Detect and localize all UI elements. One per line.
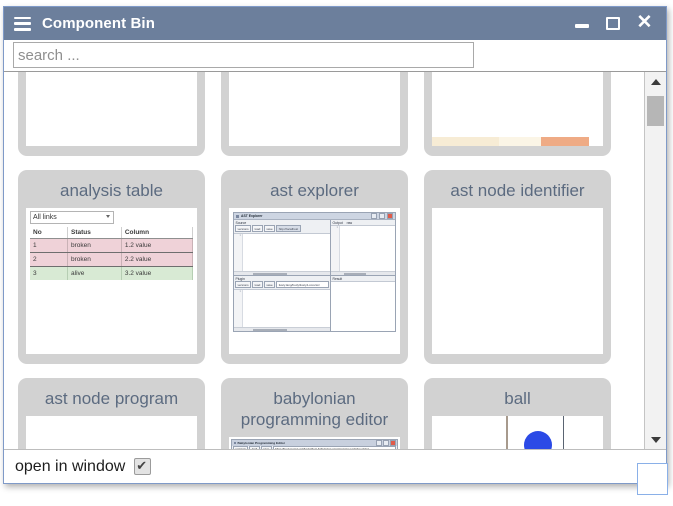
app-icon bbox=[236, 215, 239, 218]
ast-explorer-controls bbox=[371, 213, 393, 219]
output-code: 1 bbox=[331, 225, 395, 271]
search-row bbox=[4, 40, 666, 71]
component-card-ast-node-identifier[interactable]: ast node identifier bbox=[424, 170, 611, 364]
ast-explorer-top-row: Source versions load save http://localho… bbox=[234, 220, 395, 275]
window-title: Component Bin bbox=[42, 15, 155, 32]
line-gutter: 1 bbox=[234, 290, 243, 327]
babylonian-editor-preview: Babylonian Programming Editor versions bbox=[229, 437, 400, 449]
result-code bbox=[331, 281, 395, 331]
component-grid: analysis table All links No Statu bbox=[4, 72, 644, 449]
ast-explorer-window: AST Explorer Source bbox=[233, 212, 396, 332]
table-row[interactable]: 1 broken 1.2 value bbox=[30, 239, 193, 253]
component-card-ball[interactable]: ball bbox=[424, 378, 611, 449]
plugin-code: 1 bbox=[234, 289, 330, 327]
scroll-up-button[interactable] bbox=[645, 72, 666, 91]
babylonian-window: Babylonian Programming Editor versions bbox=[231, 439, 398, 449]
grid-viewport: analysis table All links No Statu bbox=[4, 72, 644, 449]
card-title: ast node identifier bbox=[432, 180, 603, 201]
component-grid-area: analysis table All links No Statu bbox=[4, 71, 666, 449]
hamburger-icon[interactable] bbox=[14, 17, 31, 31]
column-header: Status bbox=[68, 227, 122, 239]
open-in-window-checkbox[interactable] bbox=[134, 458, 151, 475]
cell-no: 1 bbox=[30, 239, 68, 253]
component-card[interactable] bbox=[424, 72, 611, 156]
cell-status: broken bbox=[68, 253, 122, 267]
cell-status: alive bbox=[68, 267, 122, 281]
card-preview bbox=[26, 416, 197, 449]
output-raw-checkbox: raw bbox=[347, 221, 352, 225]
ball-pane-3 bbox=[566, 416, 603, 449]
column-header: Column bbox=[121, 227, 192, 239]
ast-explorer-preview: AST Explorer Source bbox=[229, 208, 400, 354]
app-icon bbox=[234, 442, 237, 445]
component-card-babylonian-editor[interactable]: babylonian programming editor Babylonian… bbox=[221, 378, 408, 449]
scrollbar-thumb[interactable] bbox=[647, 96, 664, 126]
card-preview bbox=[229, 72, 400, 146]
versions-button: versions bbox=[235, 281, 251, 288]
search-input[interactable] bbox=[13, 42, 474, 68]
load-button: load bbox=[249, 446, 259, 450]
ball-pane-2 bbox=[513, 416, 564, 449]
url-field: https://lively-kernel.org/lively4/test-b… bbox=[273, 446, 396, 450]
open-in-window-label: open in window bbox=[15, 458, 125, 476]
output-hscrollbar bbox=[331, 271, 395, 275]
component-card-ast-explorer[interactable]: ast explorer AST Explorer bbox=[221, 170, 408, 364]
chevron-down-icon bbox=[106, 215, 110, 218]
cell-status: broken bbox=[68, 239, 122, 253]
close-icon bbox=[387, 213, 393, 219]
output-label: Output bbox=[333, 221, 343, 225]
minimize-icon[interactable] bbox=[574, 15, 591, 32]
window-titlebar: Component Bin ✕ bbox=[4, 7, 666, 40]
scroll-up-arrow-icon bbox=[651, 79, 661, 85]
column-header: No bbox=[30, 227, 68, 239]
links-filter-select[interactable]: All links bbox=[30, 211, 114, 224]
ball-panes bbox=[432, 416, 603, 449]
source-code: 1 bbox=[234, 233, 330, 271]
load-button: load bbox=[252, 281, 263, 288]
save-button: save bbox=[264, 281, 275, 288]
card-title: ast explorer bbox=[229, 180, 400, 201]
cell-column: 1.2 value bbox=[121, 239, 192, 253]
result-area bbox=[331, 282, 395, 331]
versions-button: versions bbox=[235, 225, 251, 232]
window-resize-handle[interactable] bbox=[637, 463, 668, 495]
save-button: save bbox=[264, 225, 275, 232]
versions-button: versions bbox=[233, 446, 248, 450]
card-title: ast node program bbox=[26, 388, 197, 409]
plugin-toolbar: versions load save lively.lang/body/live… bbox=[234, 281, 330, 289]
scroll-down-button[interactable] bbox=[645, 430, 666, 449]
output-area bbox=[340, 226, 395, 271]
babylonian-toolbar: versions load save https://lively-kernel… bbox=[232, 446, 397, 450]
card-title: babylonian programming editor bbox=[229, 388, 400, 430]
component-card-analysis-table[interactable]: analysis table All links No Statu bbox=[18, 170, 205, 364]
plugin-hscrollbar bbox=[234, 327, 330, 331]
screen: Component Bin ✕ bbox=[0, 0, 673, 506]
window-footer: open in window bbox=[4, 449, 666, 483]
minimize-icon bbox=[371, 213, 377, 219]
analysis-table: No Status Column 1 broken 1. bbox=[30, 227, 193, 280]
source-url-field: http://localhost bbox=[276, 225, 300, 232]
line-gutter: 1 bbox=[234, 234, 243, 271]
cell-no: 3 bbox=[30, 267, 68, 281]
table-row[interactable]: 2 broken 2.2 value bbox=[30, 253, 193, 267]
cell-column: 2.2 value bbox=[121, 253, 192, 267]
close-icon[interactable]: ✕ bbox=[636, 15, 653, 32]
links-filter-value: All links bbox=[33, 214, 57, 221]
card-title: analysis table bbox=[26, 180, 197, 201]
analysis-table-preview: All links No Status Column bbox=[26, 208, 197, 354]
plugin-pane: Plugin versions load save lively.lang/bo… bbox=[234, 276, 331, 331]
line-gutter: 1 bbox=[331, 226, 340, 271]
load-button: load bbox=[252, 225, 263, 232]
card-preview bbox=[26, 72, 197, 146]
card-title: ball bbox=[432, 388, 603, 409]
cell-column: 3.2 value bbox=[121, 267, 192, 281]
source-pane: Source versions load save http://localho… bbox=[234, 220, 331, 275]
source-toolbar: versions load save http://localhost bbox=[234, 225, 330, 233]
result-pane: Result bbox=[331, 276, 395, 331]
scroll-down-arrow-icon bbox=[651, 437, 661, 443]
ball-shape bbox=[524, 431, 552, 449]
plugin-url-field: lively.lang/body/lively4-core/src bbox=[276, 281, 329, 288]
source-hscrollbar bbox=[234, 271, 330, 275]
ball-pane-1 bbox=[432, 416, 508, 449]
output-pane: Output raw 1 bbox=[331, 220, 395, 275]
cell-no: 2 bbox=[30, 253, 68, 267]
vertical-scrollbar[interactable] bbox=[644, 72, 666, 449]
window-controls: ✕ bbox=[574, 15, 662, 32]
save-button: save bbox=[261, 446, 272, 450]
card-preview bbox=[432, 72, 603, 146]
plugin-area bbox=[243, 290, 330, 327]
component-card-ast-node-program[interactable]: ast node program bbox=[18, 378, 205, 449]
table-row[interactable]: 3 alive 3.2 value bbox=[30, 267, 193, 281]
table-header-row: No Status Column bbox=[30, 227, 193, 239]
ast-explorer-titlebar: AST Explorer bbox=[234, 213, 395, 220]
code-area bbox=[243, 234, 330, 271]
card-preview bbox=[432, 208, 603, 354]
maximize-icon bbox=[379, 213, 385, 219]
component-card[interactable] bbox=[18, 72, 205, 156]
component-card[interactable] bbox=[221, 72, 408, 156]
babylonian-title: Babylonian Programming Editor bbox=[238, 441, 285, 445]
ball-preview bbox=[432, 416, 603, 449]
ast-explorer-bottom-row: Plugin versions load save lively.lang/bo… bbox=[234, 275, 395, 331]
component-bin-window: Component Bin ✕ bbox=[3, 6, 667, 484]
ast-explorer-title: AST Explorer bbox=[241, 214, 262, 218]
maximize-icon[interactable] bbox=[605, 15, 622, 32]
